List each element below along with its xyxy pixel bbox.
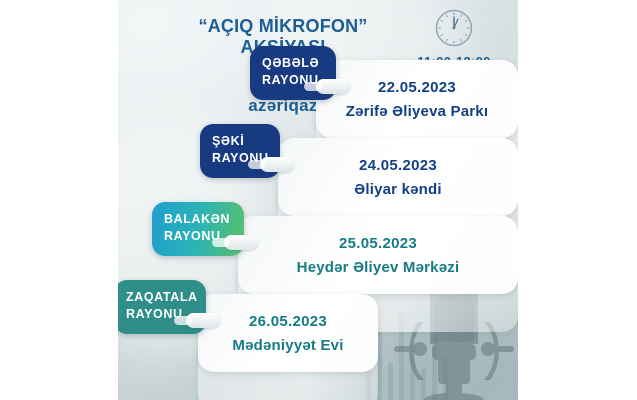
- connector-plug-icon: [224, 235, 258, 250]
- district-tag-qebele[interactable]: QƏBƏLƏ RAYONU: [250, 46, 336, 100]
- district-tag-balaken[interactable]: BALAKƏN RAYONU: [152, 202, 244, 256]
- district-tag-line1: ŞƏKİ: [212, 134, 244, 148]
- schedule-row: 26.05.2023 Mədəniyyət Evi ZAQATALA RAYON…: [118, 280, 518, 376]
- connector-plug-icon: [186, 313, 220, 328]
- page-title-line1: “AÇIQ MİKROFON”: [118, 16, 448, 37]
- connector-plug-icon: [260, 157, 294, 172]
- clock-icon: [434, 8, 474, 48]
- schedule-place: Əliyar kəndi: [354, 181, 442, 198]
- schedule-card[interactable]: 26.05.2023 Mədəniyyət Evi: [198, 294, 378, 372]
- district-tag-line1: QƏBƏLƏ: [262, 56, 319, 70]
- district-tag-line1: ZAQATALA: [126, 290, 198, 304]
- schedule-date: 24.05.2023: [359, 157, 437, 174]
- schedule-place: Zərifə Əliyeva Parkı: [346, 103, 488, 120]
- schedule-place: Mədəniyyət Evi: [232, 337, 343, 354]
- connector-plug-icon: [316, 79, 350, 94]
- schedule-date: 22.05.2023: [378, 79, 456, 96]
- district-tag-seki[interactable]: ŞƏKİ RAYONU: [200, 124, 280, 178]
- district-tag-line1: BALAKƏN: [164, 212, 230, 226]
- schedule-place: Heydər Əliyev Mərkəzi: [297, 259, 460, 276]
- district-tag-zaqatala[interactable]: ZAQATALA RAYONU: [118, 280, 206, 334]
- schedule-date: 26.05.2023: [249, 313, 327, 330]
- poster-canvas: “AÇIQ MİKROFON” AKSİYASI azəriqaz: [118, 0, 518, 400]
- schedule-date: 25.05.2023: [339, 235, 417, 252]
